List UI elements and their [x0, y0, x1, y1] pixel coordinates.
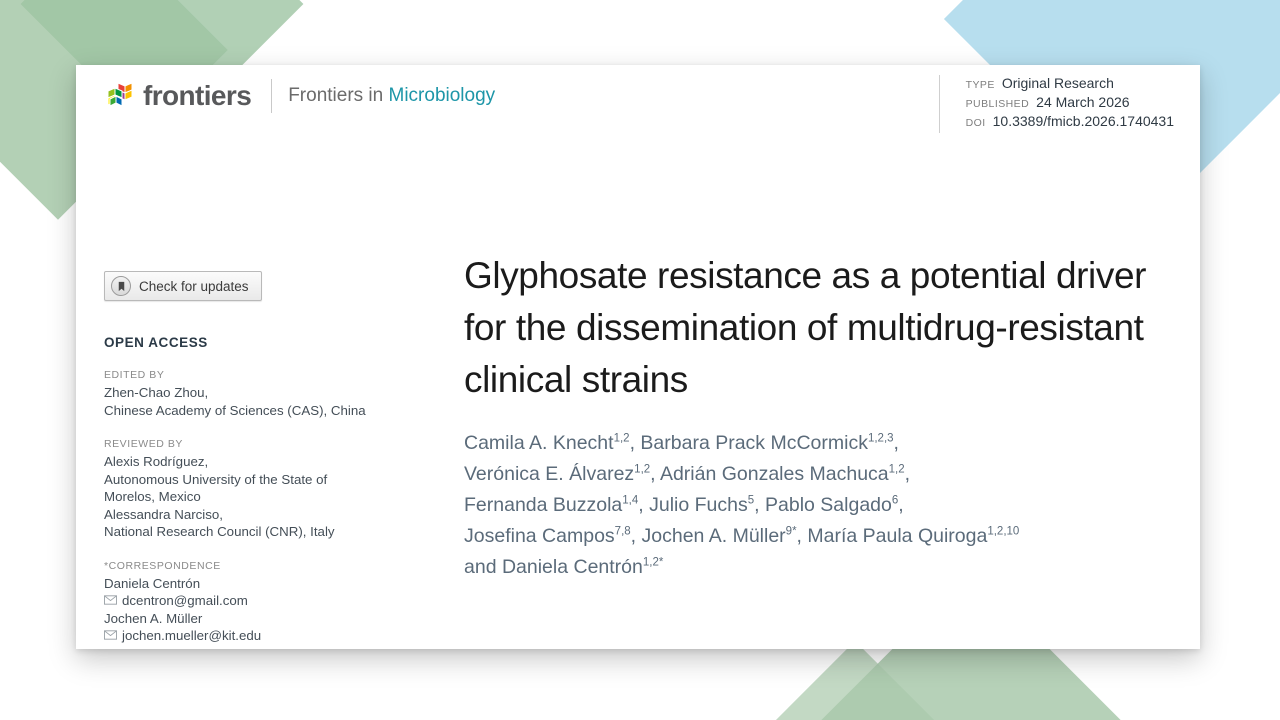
author-name[interactable]: Verónica E. Álvarez [464, 463, 634, 485]
author-name[interactable]: Fernanda Buzzola [464, 494, 622, 516]
corresponding-author-email[interactable]: jochen.mueller@kit.edu [122, 627, 261, 645]
author-name[interactable]: Jochen A. Müller [642, 525, 786, 547]
author-list: Camila A. Knecht1,2, Barbara Prack McCor… [464, 428, 1174, 583]
article-main: Glyphosate resistance as a potential dri… [464, 250, 1174, 583]
open-access-heading: OPEN ACCESS [104, 335, 404, 350]
frontiers-cubes-logo-icon [104, 81, 134, 111]
editor-name: Zhen-Chao Zhou, [104, 384, 404, 402]
author-affiliation-marker: 1,2 [614, 433, 630, 445]
section-label: REVIEWED BY [104, 438, 404, 450]
brand-name: frontiers [143, 80, 251, 112]
check-for-updates-button[interactable]: Check for updates [104, 271, 262, 301]
editor-affiliation: Chinese Academy of Sciences (CAS), China [104, 402, 404, 420]
doi-value[interactable]: 10.3389/fmicb.2026.1740431 [993, 113, 1174, 129]
author-name[interactable]: and Daniela Centrón [464, 556, 643, 578]
journal-name: Frontiers in Microbiology [288, 85, 495, 107]
reviewer-name: Alexis Rodríguez, [104, 453, 404, 471]
bookmark-icon [111, 276, 131, 296]
metadata-value: Original Research [1002, 75, 1114, 91]
author-affiliation-marker: 1,2 [634, 464, 650, 476]
corresponding-author-email-row[interactable]: dcentron@gmail.com [104, 592, 404, 610]
journal-prefix: Frontiers in [288, 85, 388, 106]
section-label: *CORRESPONDENCE [104, 560, 404, 572]
corresponding-author-name: Jochen A. Müller [104, 610, 404, 628]
publication-metadata: TYPE Original Research PUBLISHED 24 Marc… [939, 75, 1174, 133]
author-affiliation-marker: 1,2* [643, 557, 663, 569]
journal-title: Microbiology [389, 85, 496, 106]
author-name[interactable]: Pablo Salgado [765, 494, 892, 516]
author-affiliation-marker: 1,4 [622, 495, 638, 507]
author-line: and Daniela Centrón1,2* [464, 552, 1174, 583]
metadata-value: 24 March 2026 [1036, 94, 1129, 110]
edited-by-section: EDITED BY Zhen-Chao Zhou, Chinese Academ… [104, 369, 404, 419]
author-affiliation-marker: 1,2,10 [987, 526, 1019, 538]
author-name[interactable]: Adrián Gonzales Machuca [660, 463, 889, 485]
author-name[interactable]: Barbara Prack McCormick [640, 432, 868, 454]
envelope-icon [104, 630, 117, 642]
reviewer-name: Alessandra Narciso, [104, 506, 404, 524]
author-name[interactable]: María Paula Quiroga [807, 525, 987, 547]
corresponding-author-email[interactable]: dcentron@gmail.com [122, 592, 248, 610]
author-affiliation-marker: 1,2 [889, 464, 905, 476]
article-title: Glyphosate resistance as a potential dri… [464, 250, 1174, 406]
metadata-row-type: TYPE Original Research [966, 75, 1174, 91]
author-line: Camila A. Knecht1,2, Barbara Prack McCor… [464, 428, 1174, 459]
reviewer-affiliation: National Research Council (CNR), Italy [104, 523, 404, 541]
section-label: EDITED BY [104, 369, 404, 381]
author-affiliation-marker: 9* [786, 526, 797, 538]
author-name[interactable]: Julio Fuchs [649, 494, 748, 516]
reviewed-by-section: REVIEWED BY Alexis Rodríguez, Autonomous… [104, 438, 404, 541]
envelope-icon [104, 595, 117, 607]
author-affiliation-marker: 7,8 [615, 526, 631, 538]
author-line: Josefina Campos7,8, Jochen A. Müller9*, … [464, 521, 1174, 552]
metadata-row-published: PUBLISHED 24 March 2026 [966, 94, 1174, 110]
author-affiliation-marker: 1,2,3 [868, 433, 894, 445]
author-affiliation-marker: 6 [892, 495, 898, 507]
metadata-key: PUBLISHED [966, 98, 1030, 110]
article-sidebar: Check for updates OPEN ACCESS EDITED BY … [104, 271, 404, 645]
author-affiliation-marker: 5 [748, 495, 754, 507]
metadata-key: TYPE [966, 79, 995, 91]
reviewer-affiliation: Morelos, Mexico [104, 488, 404, 506]
metadata-row-doi: DOI 10.3389/fmicb.2026.1740431 [966, 113, 1174, 129]
page-canvas: frontiers Frontiers in Microbiology TYPE… [0, 0, 1280, 720]
author-name[interactable]: Josefina Campos [464, 525, 615, 547]
correspondence-section: *CORRESPONDENCE Daniela Centrón dcentron… [104, 560, 404, 645]
author-line: Verónica E. Álvarez1,2, Adrián Gonzales … [464, 459, 1174, 490]
article-page-card: frontiers Frontiers in Microbiology TYPE… [76, 65, 1200, 649]
metadata-key: DOI [966, 117, 986, 129]
corresponding-author-email-row[interactable]: jochen.mueller@kit.edu [104, 627, 404, 645]
author-name[interactable]: Camila A. Knecht [464, 432, 614, 454]
corresponding-author-name: Daniela Centrón [104, 575, 404, 593]
decor-diamond-bottom-right-small [749, 641, 961, 720]
reviewer-affiliation: Autonomous University of the State of [104, 471, 404, 489]
check-for-updates-label: Check for updates [139, 279, 249, 294]
author-line: Fernanda Buzzola1,4, Julio Fuchs5, Pablo… [464, 490, 1174, 521]
masthead: frontiers Frontiers in Microbiology [104, 79, 495, 113]
masthead-divider [271, 79, 272, 113]
